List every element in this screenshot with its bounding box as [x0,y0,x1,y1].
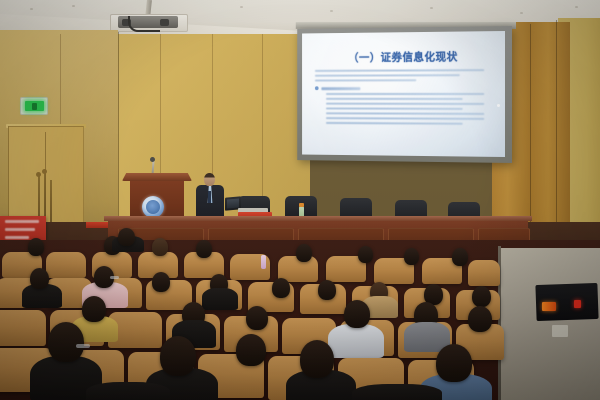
laptop-screen [227,198,239,208]
audience-head [468,306,492,332]
slide-sub-block [326,93,493,100]
stage-desk-edge [104,216,532,221]
projector-lens-icon [160,19,169,26]
audience-shoulders [352,384,442,400]
banner-text-line [5,236,29,239]
audience-head [236,334,266,366]
exit-sign [20,97,48,115]
audience-head [472,286,491,307]
audience-seat[interactable] [0,310,46,346]
slide-bullet-item [315,86,493,90]
right-aisle-wall [500,248,600,400]
podium-emblem-inner [146,200,160,214]
audience-head [196,240,212,258]
audience-head [118,228,135,246]
slide-text-line [315,69,484,72]
audience-head [300,340,334,378]
audience-head [404,248,419,265]
audience-shoulders [202,288,238,310]
ceiling-speck [430,7,433,9]
rod-knob [42,169,47,174]
banner-text-line [5,220,39,223]
slide-sub-block [326,112,493,125]
slide-text-line [326,112,485,115]
slide-title: （一）证券信息化现状 [315,48,493,65]
ceiling-speck [72,5,75,7]
bullet-dot-icon [315,86,319,90]
slide-text-line [326,122,462,125]
wall-hanging-rod [50,180,52,224]
banner-text-line [5,228,35,231]
bottle-cap [299,203,304,207]
exit-sign-glow [25,101,44,111]
audience-head [318,280,336,300]
ceiling-speck [575,6,578,8]
audience-shoulders [86,382,170,400]
audience-head [152,238,168,256]
slide-text-line [326,98,462,100]
ceiling-speck [240,6,243,8]
audience-head [30,268,49,289]
slide-text-line [326,93,485,95]
audience-head [344,300,370,328]
rod-knob [36,172,41,177]
projector-cable [128,16,160,32]
microphone-head-icon [150,157,155,162]
audience-head [152,272,170,292]
wall-seam [556,20,557,252]
audience-head [452,248,468,266]
running-man-icon [32,103,37,110]
slide-bullet-label [321,87,360,90]
podium-top-surface [122,173,192,181]
slide-text-line [326,108,462,110]
slide-text-line [315,79,417,81]
audience-head [82,296,106,322]
projection-screen: （一）证券信息化现状 [302,31,505,157]
screen-edge-highlight [497,104,500,107]
lecture-hall-photo: （一）证券信息化现状 [0,0,600,400]
slide-paragraph [315,69,493,81]
slide-text-line [326,117,485,120]
desk-name-card [86,222,108,228]
audience-head [296,244,312,262]
audience-head [358,246,373,263]
audience-shoulders [328,324,384,358]
audience-head [28,238,44,256]
wall-seam [118,32,119,244]
audience-head [436,344,472,382]
audience-head [48,322,84,362]
eyeglasses-icon [110,276,119,279]
audience-water-bottle [261,255,266,269]
ceiling-speck [520,12,523,14]
presenter-tie [208,191,211,203]
audience-seat[interactable] [468,260,500,286]
slide-sub-block [326,103,493,110]
slide-content: （一）证券信息化现状 [302,31,505,125]
presenter-head [204,173,215,186]
audience-head [160,336,196,376]
console-indicator-orange [542,302,556,311]
wall-outlet-plate [552,325,568,337]
eyeglasses-icon [76,344,90,348]
audience-head [246,306,268,330]
ceiling-speck [30,8,33,10]
ceiling-speck [330,10,333,12]
audience-head [272,278,290,298]
slide-text-line [315,74,460,76]
console-indicator-red [574,300,581,308]
slide-text-line [326,103,485,105]
audience-seat[interactable] [46,252,86,278]
